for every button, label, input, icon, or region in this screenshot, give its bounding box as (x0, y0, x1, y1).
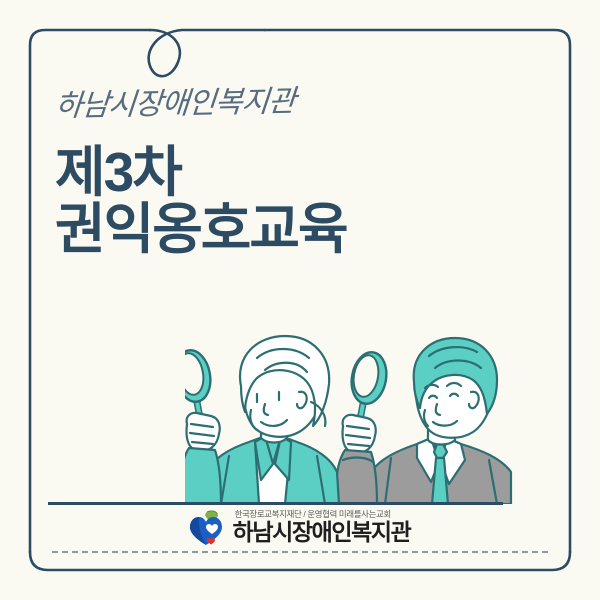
title-line-1: 제3차 (55, 144, 347, 201)
footer-partner-line: 한국장로교복지재단 / 운영협력 미래를사는교회 (233, 510, 411, 519)
footer-dashed-rule (52, 551, 548, 553)
page-title: 제3차 권익옹호교육 (55, 144, 347, 258)
footer-logo-lockup: 한국장로교복지재단 / 운영협력 미래를사는교회 하남시장애인복지관 (0, 505, 600, 549)
handwritten-subtitle: 하남시장애인복지관 (54, 86, 349, 122)
title-line-2: 권익옹호교육 (55, 201, 347, 258)
heart-logo-icon (190, 509, 224, 545)
text-block: 하남시장애인복지관 제3차 권익옹호교육 (55, 92, 347, 258)
footer-org-name: 하남시장애인복지관 (233, 521, 411, 544)
illustration-two-people-magnifiers (185, 330, 515, 504)
poster-canvas: 하남시장애인복지관 제3차 권익옹호교육 (0, 0, 600, 600)
illustration-svg (185, 330, 515, 504)
footer-text-group: 한국장로교복지재단 / 운영협력 미래를사는교회 하남시장애인복지관 (233, 510, 411, 545)
